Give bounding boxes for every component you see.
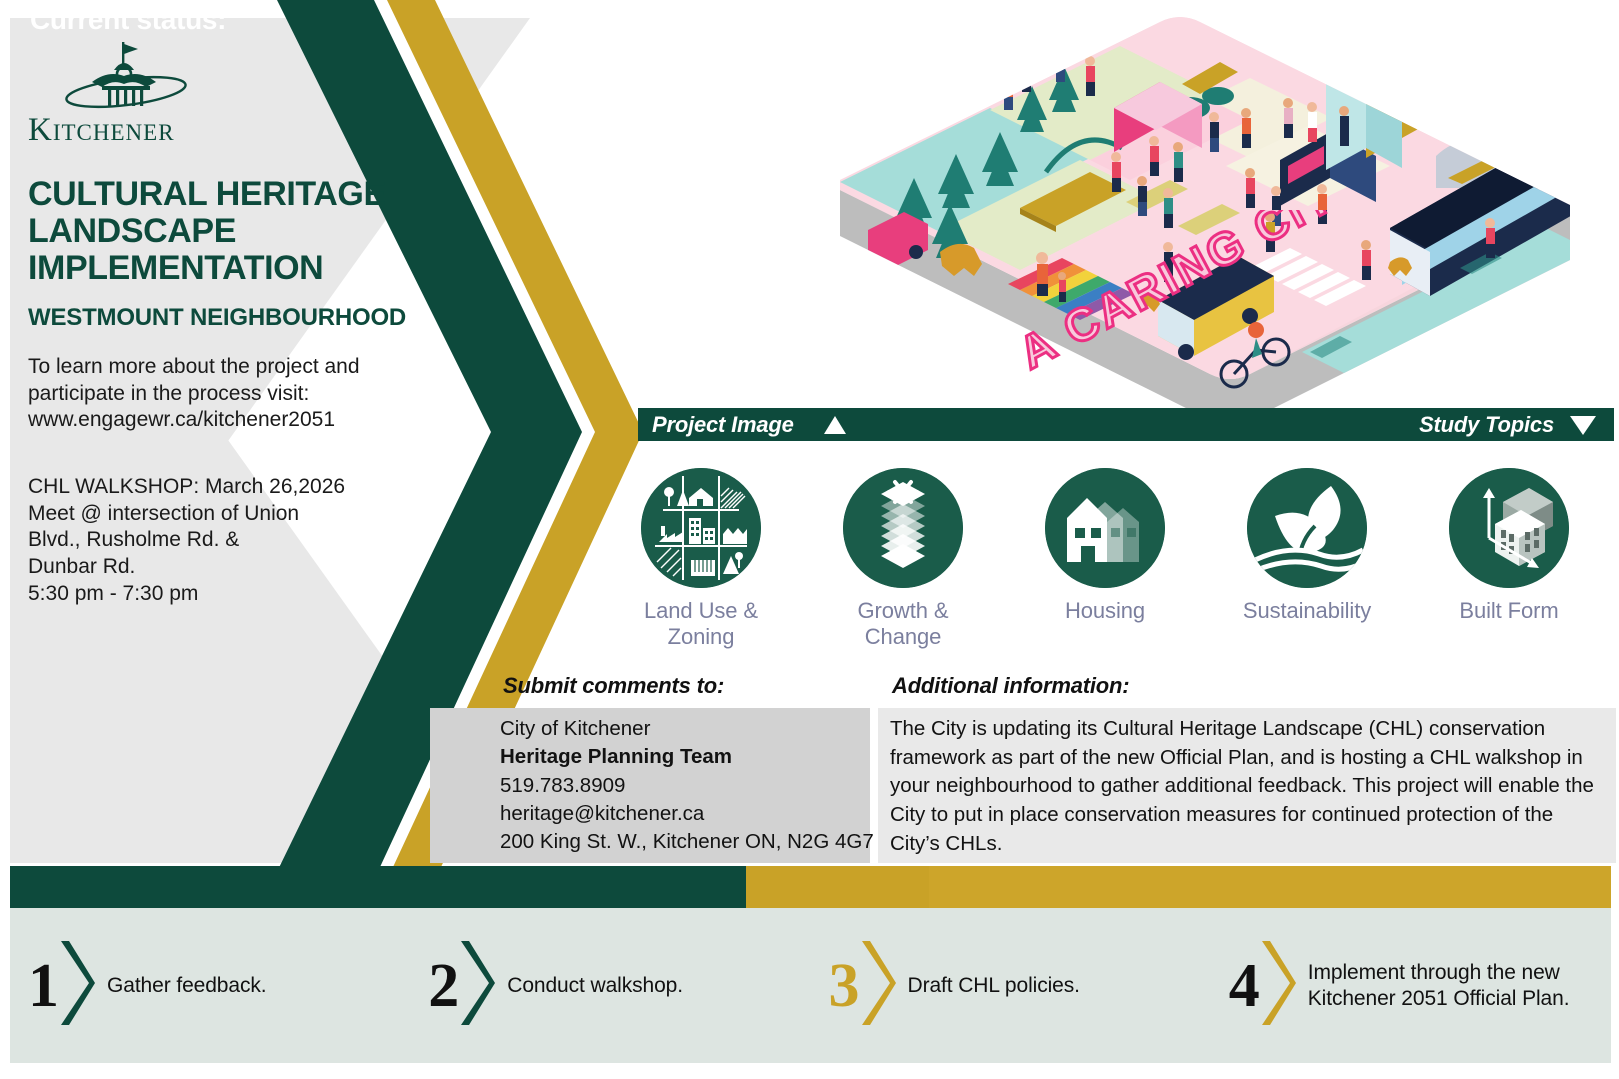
project-website-link[interactable]: www.engagewr.ca/kitchener2051 <box>28 407 448 434</box>
topic-built-form[interactable]: Built Form <box>1408 468 1610 663</box>
walkshop-line-4: Dunbar Rd. <box>28 554 448 581</box>
triangle-down-icon <box>1570 416 1596 435</box>
current-status-bar <box>10 866 746 908</box>
land-use-grid-icon <box>641 468 761 588</box>
title-line-3: IMPLEMENTATION <box>28 249 323 287</box>
topic-label-line1: Growth & <box>858 598 949 623</box>
additional-information-heading: Additional information: <box>892 673 1129 699</box>
kitchener-logo: Kitchener <box>28 40 238 160</box>
page-title: CULTURAL HERITAGE LANDSCAPE IMPLEMENTATI… <box>28 176 448 287</box>
title-line-1: CULTURAL HERITAGE <box>28 175 386 213</box>
chevron-right-icon <box>55 935 95 1036</box>
contact-phone[interactable]: 519.783.8909 <box>500 772 880 800</box>
title-line-2: LANDSCAPE <box>28 212 236 250</box>
housing-houses-icon <box>1045 468 1165 588</box>
chevron-right-icon <box>856 935 896 1036</box>
contact-org: City of Kitchener <box>500 715 880 743</box>
step-text-line1: Gather feedback. <box>107 974 267 997</box>
built-form-building-icon <box>1449 468 1569 588</box>
walkshop-line-1: CHL WALKSHOP: March 26,2026 <box>28 474 448 501</box>
step-text-line2: Kitchener 2051 Official Plan. <box>1308 987 1570 1010</box>
growth-stack-icon <box>843 468 963 588</box>
walkshop-line-2: Meet @ intersection of Union <box>28 501 448 528</box>
topic-label-built-form: Built Form <box>1459 598 1558 624</box>
step-2: 2 Conduct walkshop. <box>410 908 810 1063</box>
chevron-right-icon <box>455 935 495 1036</box>
project-image-illustration <box>690 0 1619 410</box>
contact-details: City of Kitchener Heritage Planning Team… <box>500 715 880 856</box>
page-subtitle: WESTMOUNT NEIGHBOURHOOD <box>28 304 448 332</box>
topic-label-line2: Zoning <box>668 624 735 649</box>
step-text-line1: Conduct walkshop. <box>507 974 683 997</box>
intro-paragraph: To learn more about the project and part… <box>28 354 448 434</box>
project-image-label: Project Image <box>652 412 794 438</box>
topic-label-line1: Land Use & <box>644 598 758 623</box>
next-steps-bar <box>746 866 929 908</box>
step-text: Gather feedback. <box>107 973 267 999</box>
next-steps-label: Next steps: <box>762 4 910 36</box>
intro-line-2: participate in the process visit: <box>28 381 448 408</box>
topic-label-growth: Growth & Change <box>858 598 949 650</box>
step-text: Draft CHL policies. <box>908 973 1080 999</box>
step-text-line1: Implement through the new <box>1308 961 1560 984</box>
topic-label-line1: Sustainability <box>1243 598 1371 623</box>
left-panel-content: Kitchener CULTURAL HERITAGE LANDSCAPE IM… <box>28 40 448 607</box>
step-1: 1 Gather feedback. <box>10 908 410 1063</box>
walkshop-details: CHL WALKSHOP: March 26,2026 Meet @ inter… <box>28 474 448 607</box>
step-text: Conduct walkshop. <box>507 973 683 999</box>
topic-label-line1: Built Form <box>1459 598 1558 623</box>
topic-label-sustainability: Sustainability <box>1243 598 1371 624</box>
walkshop-line-5: 5:30 pm - 7:30 pm <box>28 581 448 608</box>
kitchener-wordmark: Kitchener <box>28 112 175 149</box>
study-topics-row: Land Use & Zoning <box>600 468 1610 663</box>
step-text-line1: Draft CHL policies. <box>908 974 1080 997</box>
topic-housing[interactable]: Housing <box>1004 468 1206 663</box>
step-4: 4 Implement through the new Kitchener 20… <box>1211 908 1611 1063</box>
current-status-label: Current status: <box>30 4 226 36</box>
topic-label-line1: Housing <box>1065 598 1145 623</box>
topic-label-line2: Change <box>865 624 941 649</box>
contact-address: 200 King St. W., Kitchener ON, N2G 4G7 <box>500 828 880 856</box>
chevron-right-icon <box>1256 935 1296 1036</box>
steps-row: 1 Gather feedback. 2 Conduct walkshop. 3 <box>10 908 1611 1063</box>
contact-email[interactable]: heritage@kitchener.ca <box>500 800 880 828</box>
additional-info-body: The City is updating its Cultural Herita… <box>890 715 1602 858</box>
poster-root: A CARING CITY <box>0 0 1619 1079</box>
topic-land-use-zoning[interactable]: Land Use & Zoning <box>600 468 802 663</box>
topic-growth-change[interactable]: Growth & Change <box>802 468 1004 663</box>
study-topics-label: Study Topics <box>1419 412 1554 438</box>
triangle-up-icon <box>824 416 846 434</box>
topic-label-housing: Housing <box>1065 598 1145 624</box>
walkshop-line-3: Blvd., Rusholme Rd. & <box>28 527 448 554</box>
topic-sustainability[interactable]: Sustainability <box>1206 468 1408 663</box>
next-steps-bar-light <box>929 866 1611 908</box>
submit-comments-heading: Submit comments to: <box>503 673 724 699</box>
intro-line-1: To learn more about the project and <box>28 354 448 381</box>
sustainability-leaf-icon <box>1247 468 1367 588</box>
step-text: Implement through the new Kitchener 2051… <box>1308 960 1570 1011</box>
contact-team: Heritage Planning Team <box>500 743 880 771</box>
kitchener-crest-icon <box>28 40 228 120</box>
step-3: 3 Draft CHL policies. <box>811 908 1211 1063</box>
section-banner: Project Image Study Topics <box>638 408 1614 441</box>
topic-label-land-use: Land Use & Zoning <box>644 598 758 650</box>
